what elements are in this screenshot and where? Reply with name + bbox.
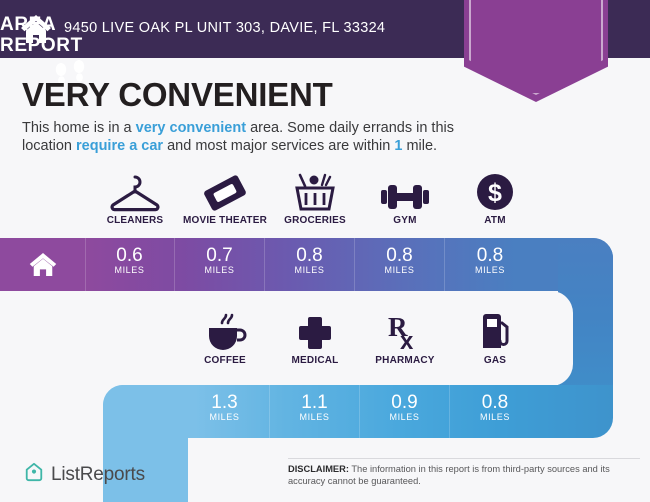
gas-pump-icon [450, 312, 540, 352]
home-marker [0, 238, 86, 291]
hanger-icon [90, 172, 180, 212]
distance-value: 0.8 [265, 246, 354, 266]
category-groceries: GROCERIES [270, 172, 360, 234]
badge-title-line2: REPORT [0, 35, 144, 56]
listreports-logo-text: ListReports [51, 464, 145, 486]
description-highlight-convenience: very convenient [136, 120, 246, 136]
distance-cell-atm: 0.8 MILES [445, 238, 535, 291]
distance-unit: MILES [445, 265, 535, 275]
description-part3: and most major services are within [163, 138, 394, 154]
rx-icon: R x [360, 312, 450, 352]
page-title: VERY CONVENIENT [22, 76, 333, 114]
area-report-badge [464, 0, 608, 102]
distance-value: 0.8 [355, 246, 444, 266]
category-medical: MEDICAL [270, 312, 360, 374]
dollar-coin-icon: $ [450, 172, 540, 212]
category-pharmacy: R x PHARMACY [360, 312, 450, 374]
disclaimer-label: DISCLAIMER: [288, 464, 349, 474]
basket-icon [270, 172, 360, 212]
ticket-icon [180, 172, 270, 212]
description-highlight-car: require a car [76, 138, 163, 154]
footer-divider [288, 458, 640, 459]
description-part1: This home is in a [22, 120, 136, 136]
category-label: GYM [360, 215, 450, 226]
badge-border [469, 0, 603, 95]
distance-unit: MILES [85, 265, 174, 275]
row2-icons: COFFEE MEDICAL R x PHARMACY [0, 312, 650, 374]
distance-value: 1.1 [270, 393, 359, 413]
distance-cell-cleaners: 0.6 MILES [85, 238, 175, 291]
coffee-cup-icon [180, 312, 270, 352]
description-part4: mile. [402, 138, 437, 154]
category-label: MOVIE THEATER [180, 215, 270, 226]
distance-value: 0.8 [450, 393, 540, 413]
category-label: PHARMACY [360, 355, 450, 366]
distance-cell-movie-theater: 0.7 MILES [175, 238, 265, 291]
disclaimer: DISCLAIMER: The information in this repo… [288, 463, 640, 487]
description-text: This home is in a very convenient area. … [22, 119, 462, 155]
row1-distance-bar: 0.6 MILES 0.7 MILES 0.8 MILES 0.8 MILES … [0, 238, 613, 291]
svg-text:$: $ [488, 179, 502, 207]
infographic-canvas: 9450 LIVE OAK PL UNIT 303, DAVIE, FL 333… [0, 0, 650, 502]
distance-unit: MILES [360, 412, 449, 422]
category-label: GROCERIES [270, 215, 360, 226]
category-label: CLEANERS [90, 215, 180, 226]
distance-unit: MILES [180, 412, 269, 422]
category-gym: GYM [360, 172, 450, 234]
dumbbell-icon [360, 172, 450, 212]
category-label: MEDICAL [270, 355, 360, 366]
bar-connector-left-notch [188, 438, 218, 502]
distance-value: 0.9 [360, 393, 449, 413]
distance-unit: MILES [450, 412, 540, 422]
category-coffee: COFFEE [180, 312, 270, 374]
distance-value: 0.7 [175, 246, 264, 266]
distance-cell-pharmacy: 0.9 MILES [360, 385, 450, 438]
distance-cell-medical: 1.1 MILES [270, 385, 360, 438]
distance-cell-gym: 0.8 MILES [355, 238, 445, 291]
distance-unit: MILES [355, 265, 444, 275]
medical-cross-icon [270, 312, 360, 352]
distance-value: 0.6 [85, 246, 174, 266]
distance-unit: MILES [270, 412, 359, 422]
distance-cell-coffee: 1.3 MILES [180, 385, 270, 438]
category-movie-theater: MOVIE THEATER [180, 172, 270, 234]
distance-value: 1.3 [180, 393, 269, 413]
distance-cell-groceries: 0.8 MILES [265, 238, 355, 291]
row1-icons: CLEANERS MOVIE THEATER [0, 172, 650, 234]
category-label: ATM [450, 215, 540, 226]
category-atm: $ ATM [450, 172, 540, 234]
category-cleaners: CLEANERS [90, 172, 180, 234]
distance-cell-gas: 0.8 MILES [450, 385, 540, 438]
listreports-house-tag-icon [24, 462, 44, 487]
badge-title: AREA REPORT [0, 14, 144, 56]
svg-text:x: x [400, 328, 414, 352]
listreports-logo: ListReports [24, 462, 145, 487]
badge-title-line1: AREA [0, 14, 144, 35]
distance-value: 0.8 [445, 246, 535, 266]
category-label: GAS [450, 355, 540, 366]
category-label: COFFEE [180, 355, 270, 366]
distance-unit: MILES [175, 265, 264, 275]
category-gas: GAS [450, 312, 540, 374]
distance-unit: MILES [265, 265, 354, 275]
